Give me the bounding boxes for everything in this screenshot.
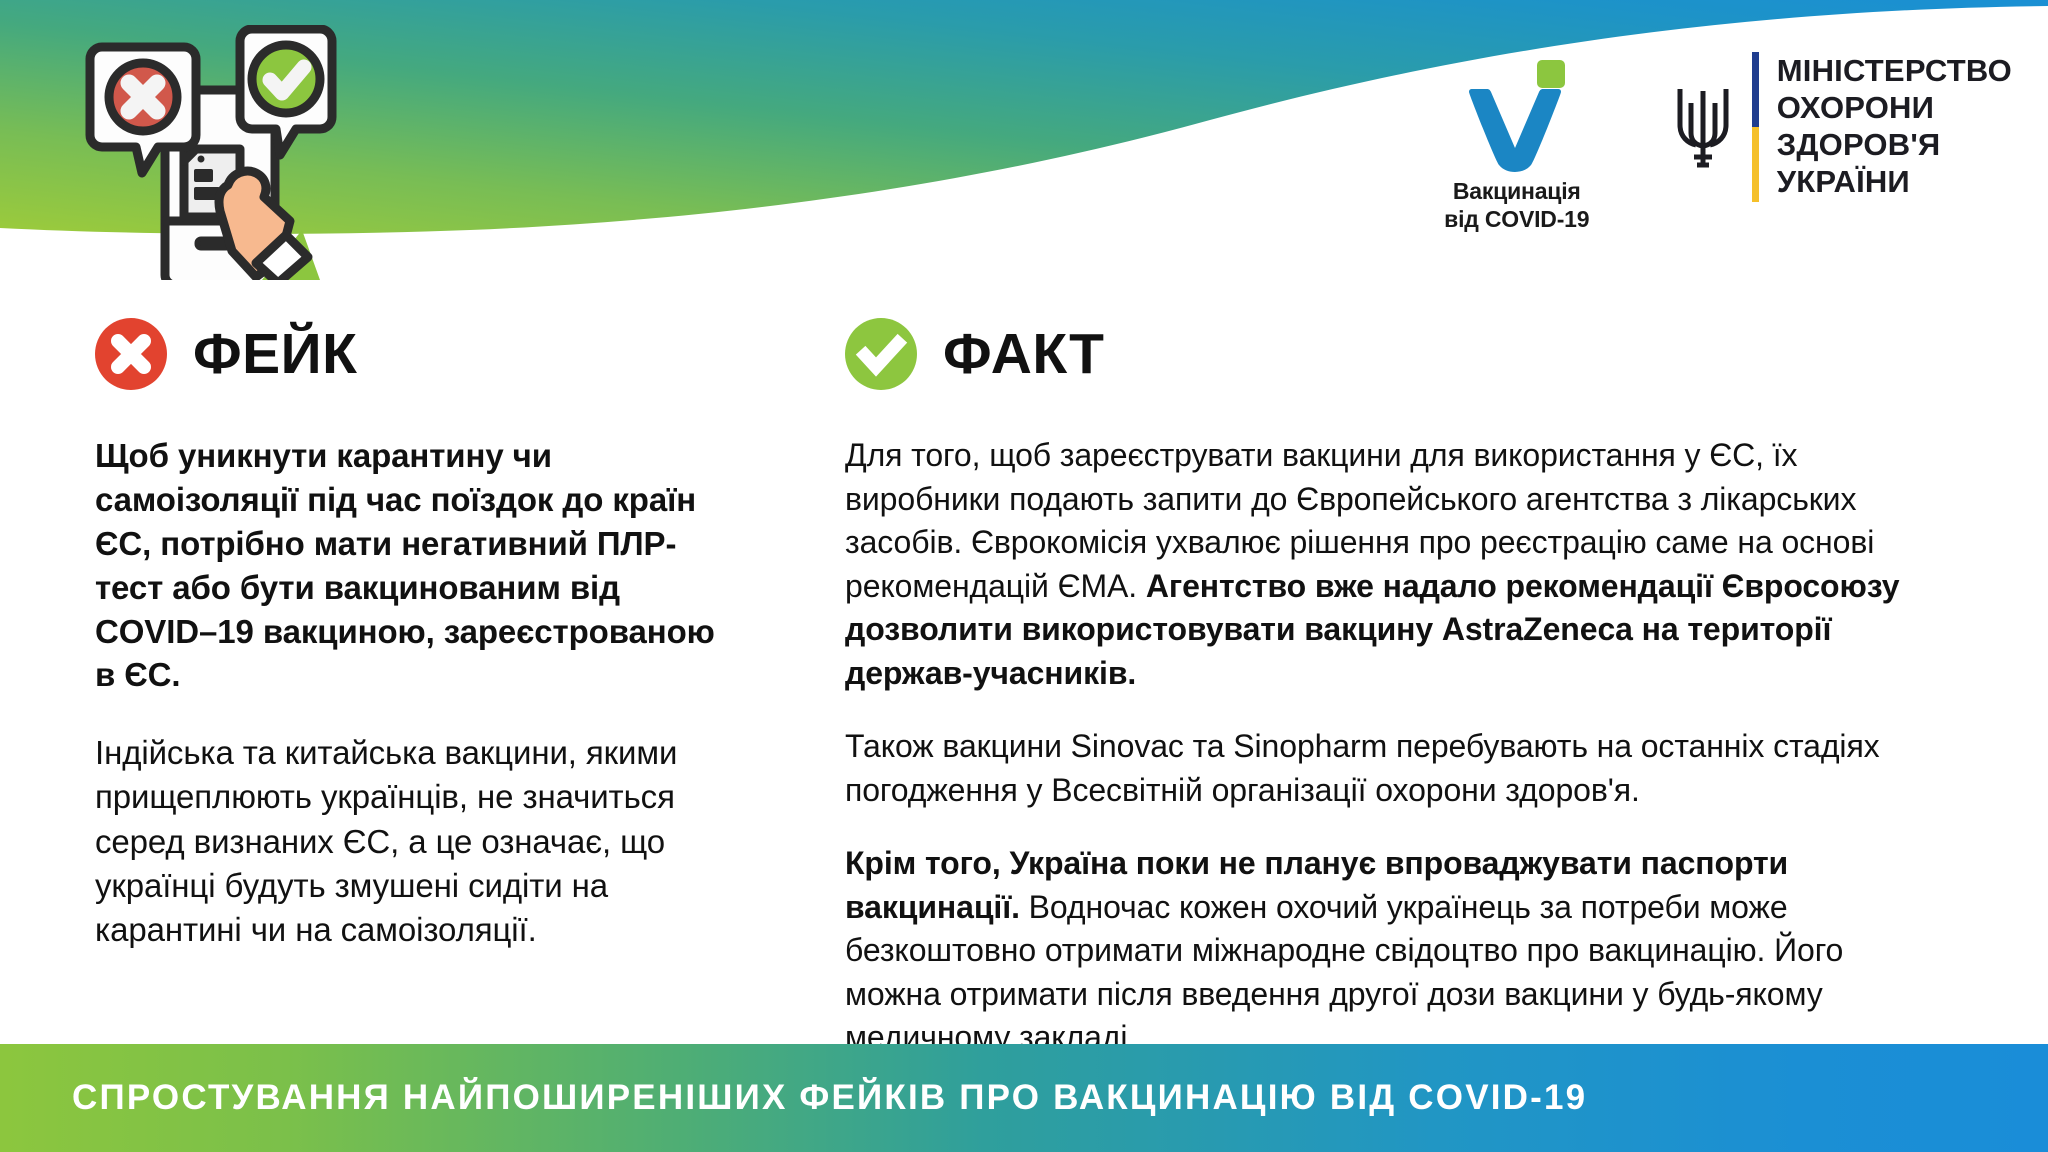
fake-paragraph-1: Індійська та китайська вакцини, якими пр…	[95, 731, 740, 952]
fake-column-header: ФЕЙК	[95, 318, 740, 390]
check-icon	[845, 318, 917, 390]
fact-paragraph-3: Крім того, Україна поки не планує впрова…	[845, 842, 1930, 1060]
ukraine-flag-divider	[1752, 52, 1759, 202]
ministry-line-2: ОХОРОНИ	[1777, 90, 2012, 127]
fact-title: ФАКТ	[943, 326, 1104, 383]
fact-column-header: ФАКТ	[845, 318, 1930, 390]
ministry-line-3: ЗДОРОВ'Я	[1777, 127, 2012, 164]
ministry-logo-text: МІНІСТЕРСТВО ОХОРОНИ ЗДОРОВ'Я УКРАЇНИ	[1777, 53, 2012, 201]
vaccination-caption-line1: Вакцинація	[1444, 178, 1589, 206]
content-columns: ФЕЙК Щоб уникнути карантину чи самоізоля…	[0, 318, 2048, 1060]
fake-column: ФЕЙК Щоб уникнути карантину чи самоізоля…	[0, 318, 740, 1060]
cross-icon	[95, 318, 167, 390]
vaccination-logo: Вакцинація від COVID-19	[1432, 52, 1602, 233]
fake-lead-text: Щоб уникнути карантину чи самоізоляції п…	[95, 434, 740, 697]
fact-column: ФАКТ Для того, щоб зареєструвати вакцини…	[740, 318, 1970, 1060]
ukraine-trident-emblem	[1672, 81, 1734, 173]
fake-title: ФЕЙК	[193, 326, 357, 383]
vaccination-logo-caption: Вакцинація від COVID-19	[1444, 178, 1589, 233]
ministry-of-health-logo: МІНІСТЕРСТВО ОХОРОНИ ЗДОРОВ'Я УКРАЇНИ	[1672, 52, 2012, 202]
poster-root: Вакцинація від COVID-19 МІНІСТЕРСТВО ОХО…	[0, 0, 2048, 1152]
footer-banner: СПРОСТУВАННЯ НАЙПОШИРЕНІШИХ ФЕЙКІВ ПРО В…	[0, 1044, 2048, 1152]
phone-certificate-illustration	[80, 25, 390, 280]
ministry-line-1: МІНІСТЕРСТВО	[1777, 53, 2012, 90]
fact-paragraph-1: Для того, щоб зареєструвати вакцини для …	[845, 434, 1930, 695]
footer-banner-text: СПРОСТУВАННЯ НАЙПОШИРЕНІШИХ ФЕЙКІВ ПРО В…	[0, 1078, 1587, 1118]
green-dot-icon	[1537, 60, 1565, 88]
v-checkmark-logo	[1457, 52, 1577, 172]
fact-paragraph-2: Також вакцини Sinovac та Sinopharm переб…	[845, 725, 1930, 812]
brand-logo-row: Вакцинація від COVID-19 МІНІСТЕРСТВО ОХО…	[1432, 52, 2012, 233]
ministry-line-4: УКРАЇНИ	[1777, 164, 2012, 201]
vaccination-caption-line2: від COVID-19	[1444, 206, 1589, 234]
